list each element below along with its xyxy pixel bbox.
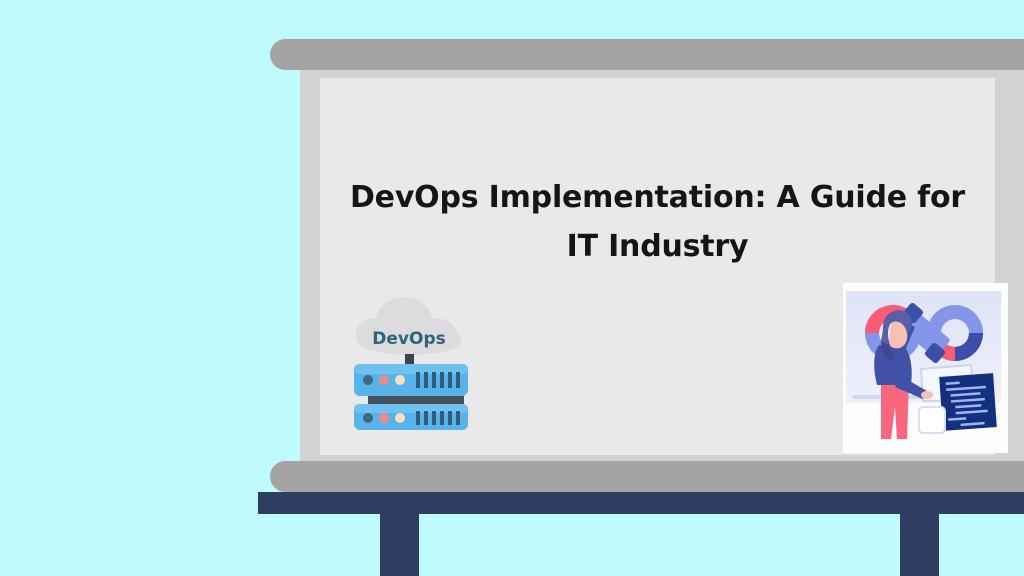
server-base-divider bbox=[368, 396, 464, 405]
server-unit-bottom bbox=[354, 404, 468, 430]
slide-canvas: DevOps Implementation: A Guide for IT In… bbox=[0, 0, 1024, 576]
white-note-card bbox=[919, 407, 945, 433]
devops-cloud-servers-illustration: DevOps bbox=[352, 294, 474, 430]
cloud-devops-label: DevOps bbox=[372, 329, 445, 349]
whiteboard-stand-crossbar bbox=[258, 492, 1024, 514]
whiteboard-top-rail bbox=[270, 39, 1024, 70]
devops-infinity-presenter-illustration bbox=[843, 283, 1008, 453]
server-unit-top bbox=[354, 364, 468, 396]
page-title-line-1: DevOps Implementation: A Guide for bbox=[330, 174, 985, 223]
whiteboard-bottom-rail bbox=[270, 461, 1024, 492]
whiteboard-stand-leg-left bbox=[380, 512, 419, 576]
whiteboard-stand-leg-right bbox=[900, 512, 939, 576]
page-title: DevOps Implementation: A Guide for IT In… bbox=[330, 174, 985, 271]
code-panel bbox=[939, 373, 997, 431]
page-title-line-2: IT Industry bbox=[330, 223, 985, 272]
server-connector bbox=[405, 354, 414, 365]
